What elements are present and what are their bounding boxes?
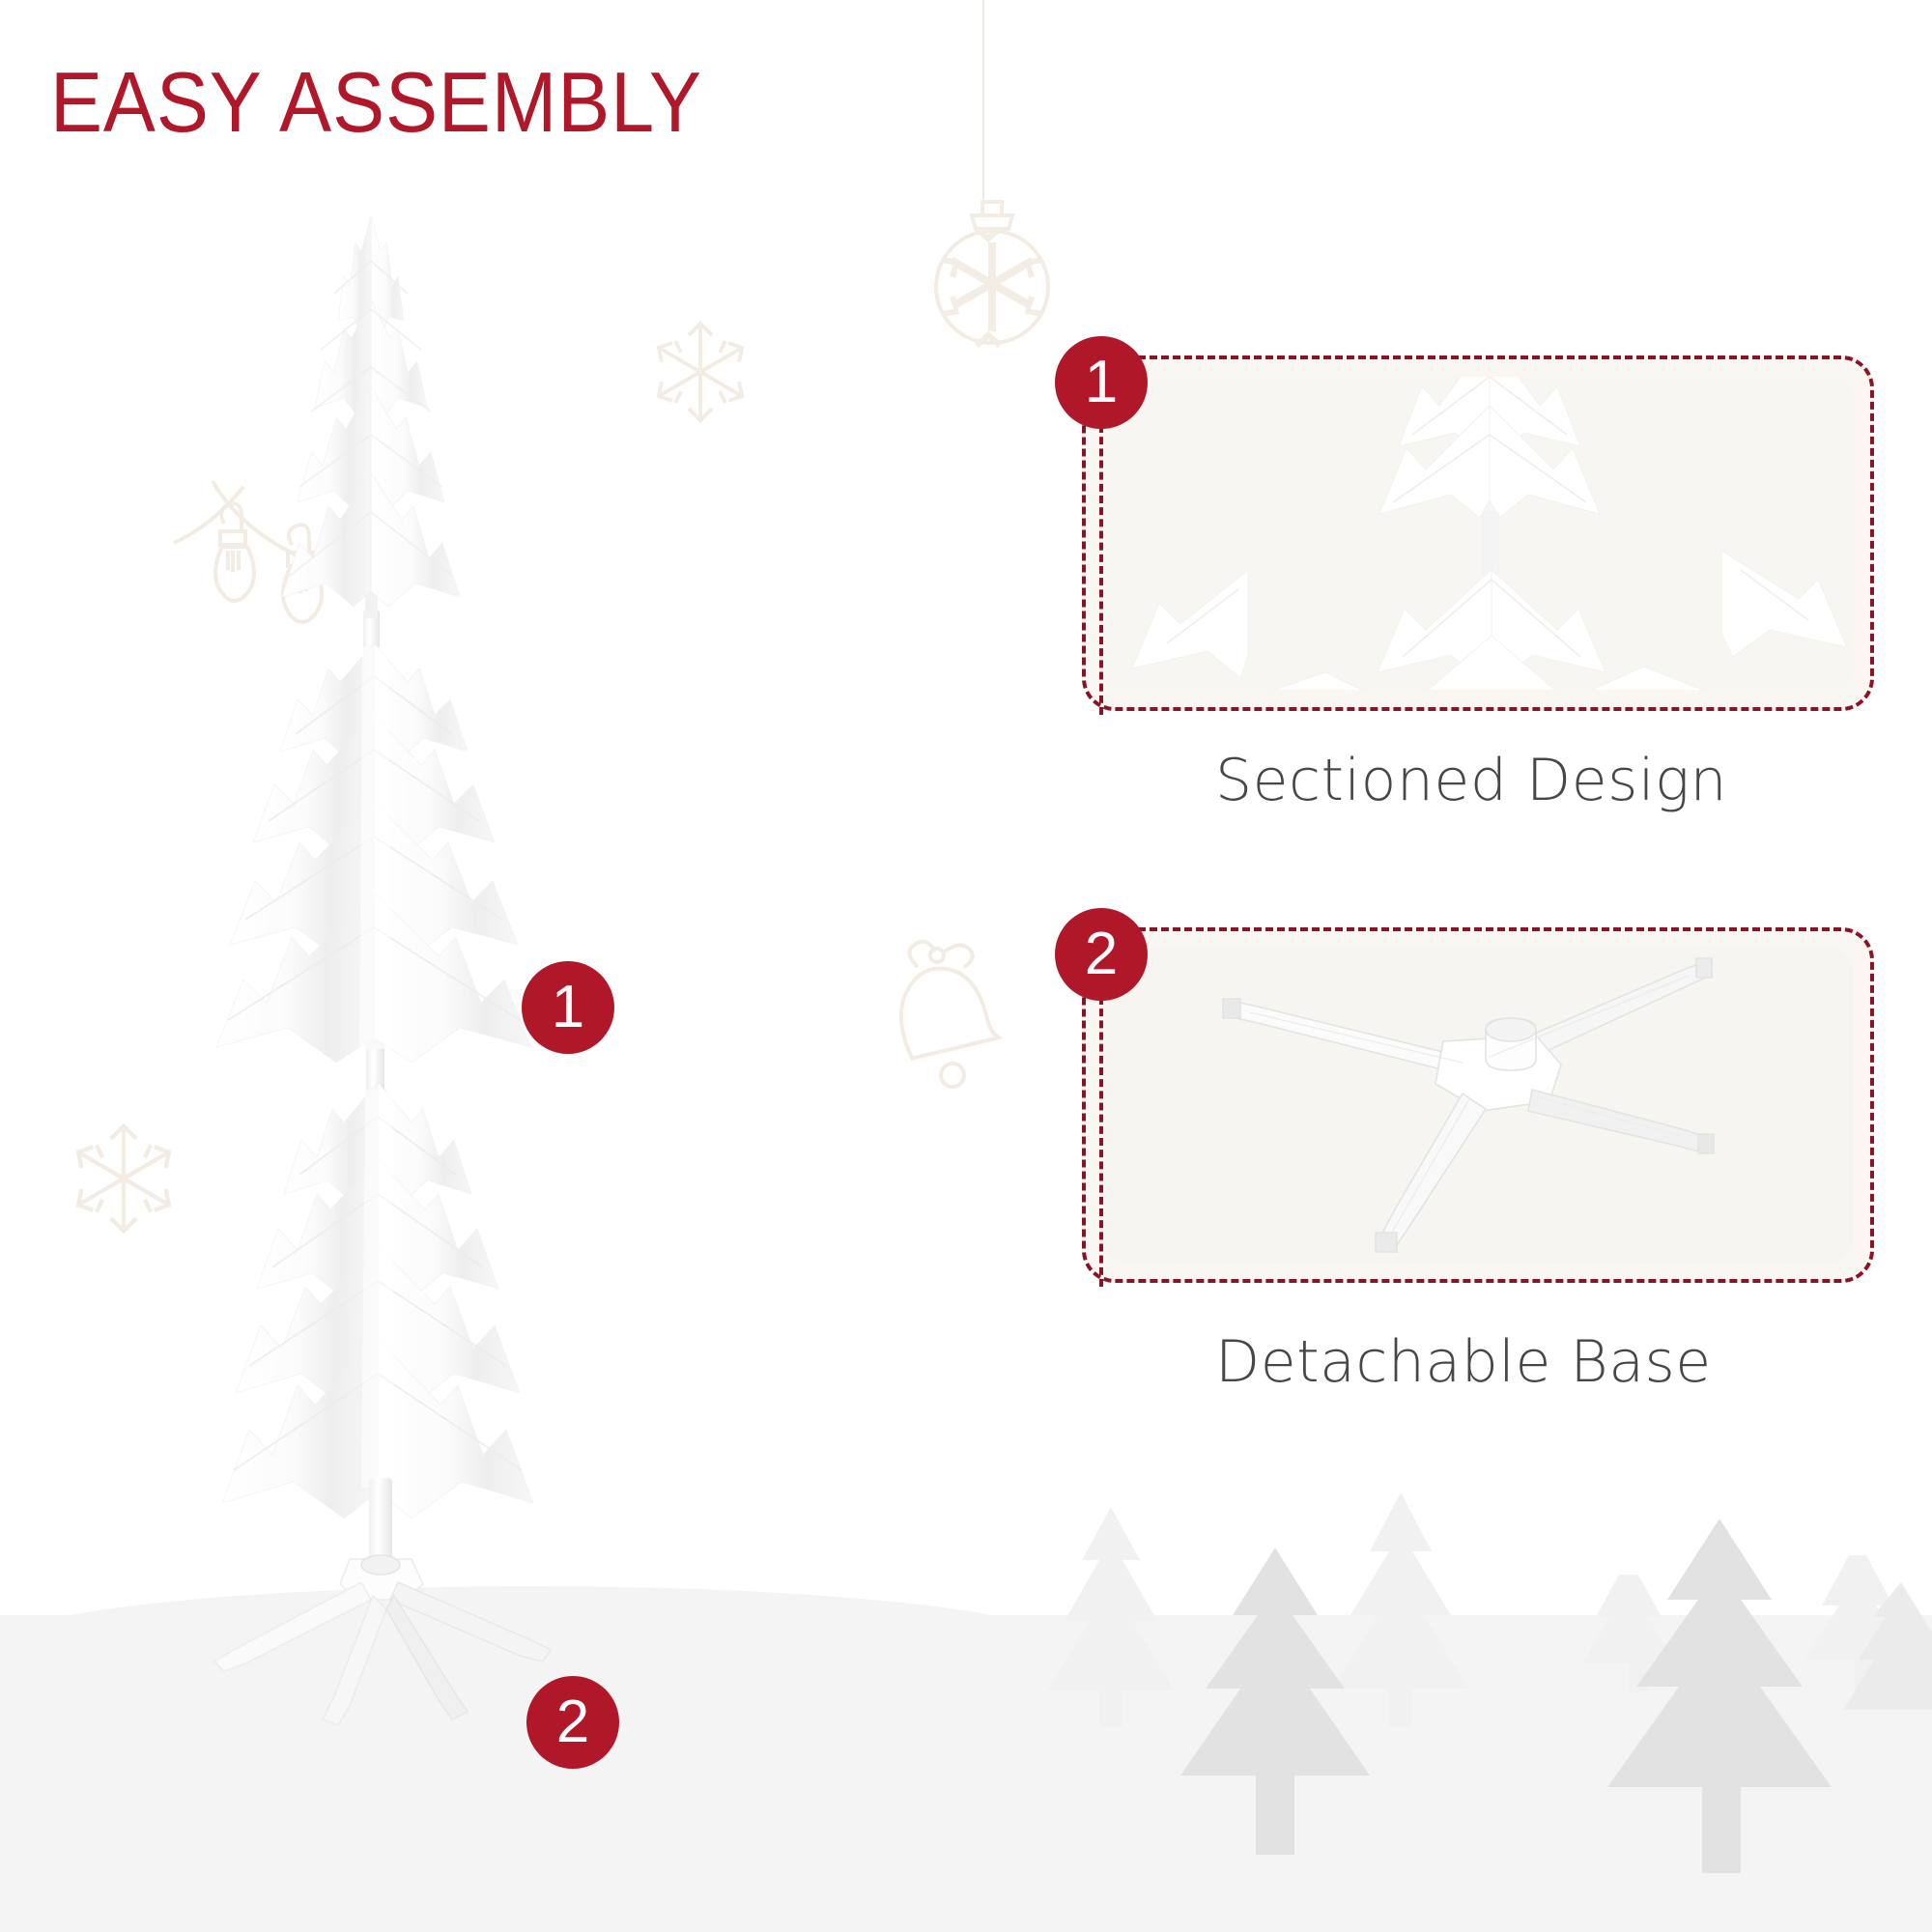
product-callout-badge-2[interactable]: 2	[526, 1676, 619, 1769]
bell-icon	[860, 932, 1014, 1106]
page-title: EASY ASSEMBLY	[50, 60, 702, 145]
tree-base-stand	[214, 1478, 551, 1725]
product-illustration	[145, 193, 744, 1932]
ornament-thread	[982, 0, 984, 205]
infographic-canvas: EASY ASSEMBLY	[0, 0, 1932, 1932]
product-callout-badge-1[interactable]: 1	[522, 961, 614, 1054]
feature-badge-1[interactable]: 1	[1055, 336, 1148, 429]
feature-2-leader	[1099, 997, 1103, 1287]
tree-middle-section	[216, 643, 531, 1063]
feature-badge-2[interactable]: 2	[1055, 908, 1148, 1001]
tree-top-section	[282, 216, 460, 618]
feature-caption-1: Sectioned Design	[1215, 752, 1727, 810]
feature-1-leader	[1099, 425, 1103, 715]
feature-panel-2-image	[1103, 949, 1853, 1262]
feature-caption-2: Detachable Base	[1215, 1333, 1712, 1391]
feature-panel-1	[1082, 355, 1874, 711]
ornament-icon	[929, 198, 1055, 353]
tree-bottom-section	[222, 1082, 533, 1519]
feature-panel-1-image	[1103, 377, 1853, 690]
feature-panel-2	[1082, 927, 1874, 1283]
